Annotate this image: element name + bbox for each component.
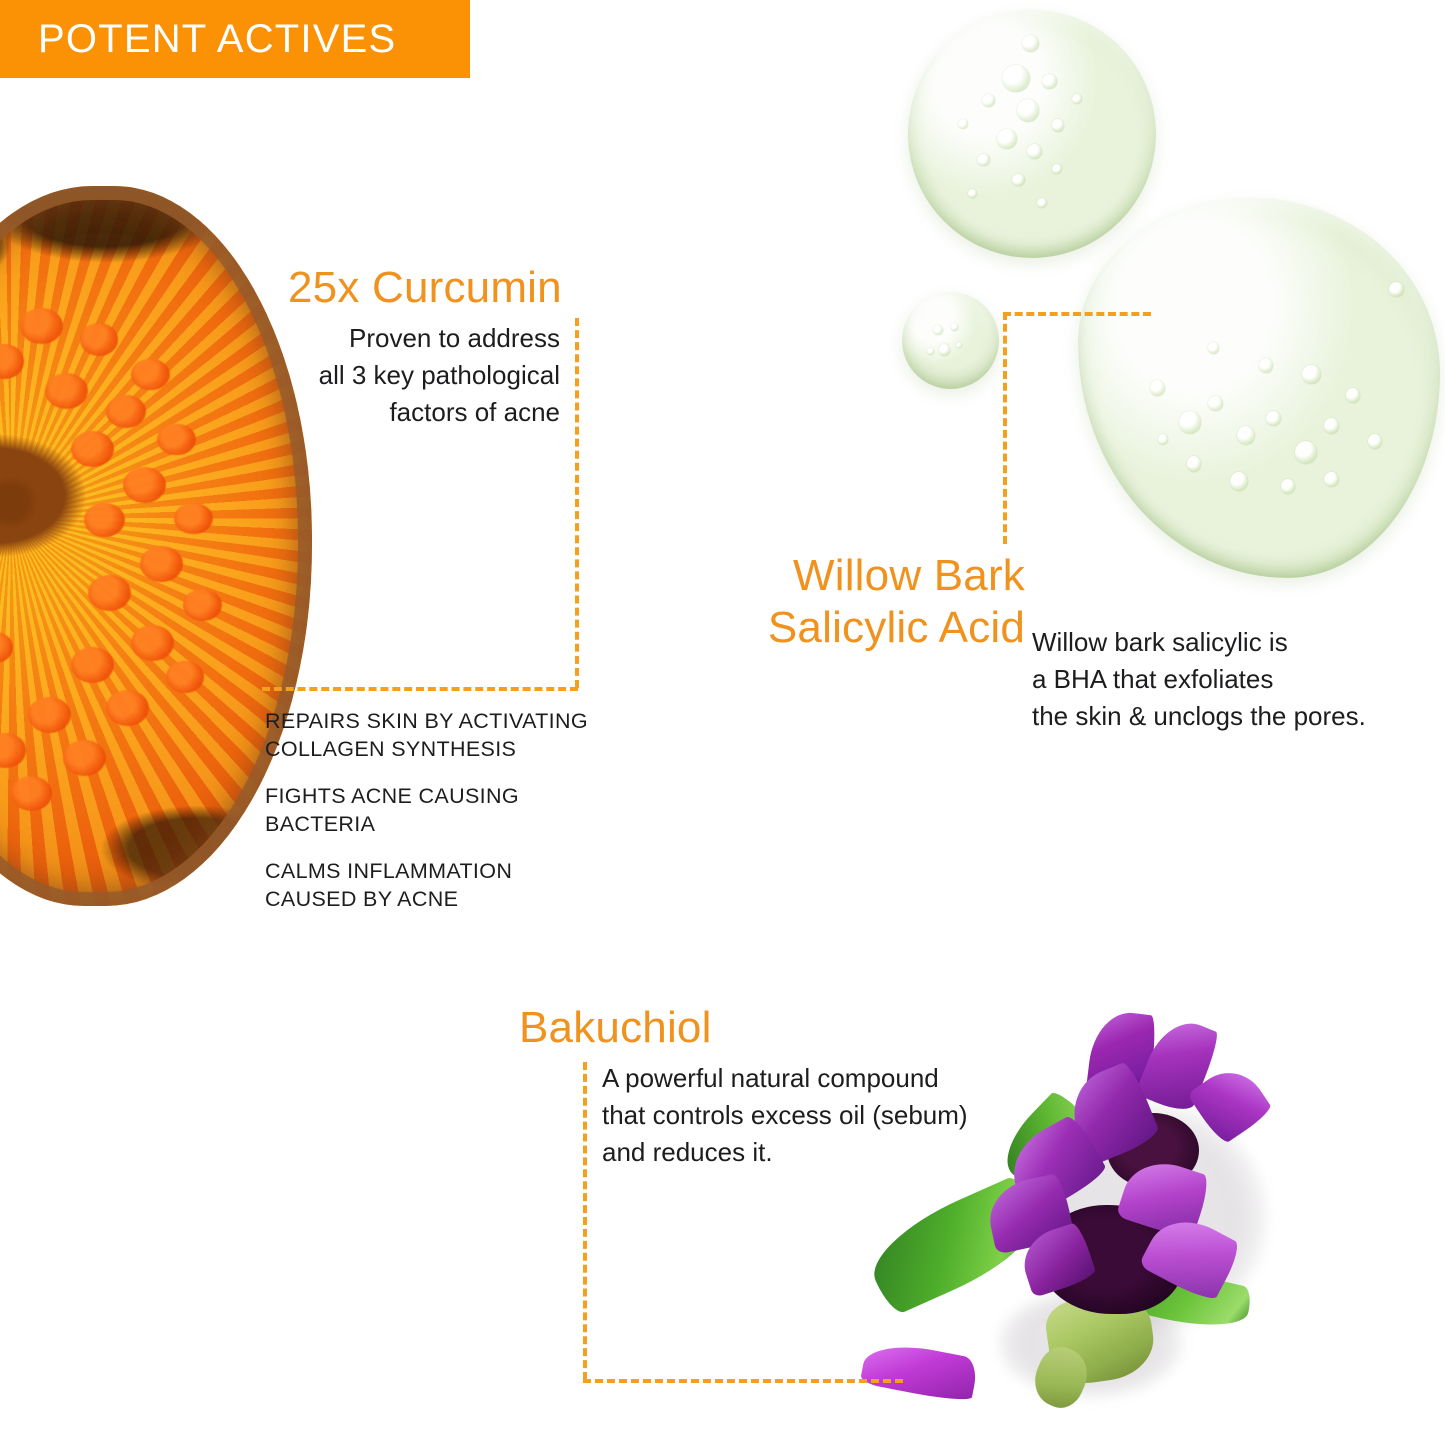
willow-connector-horizontal — [1003, 312, 1151, 316]
fallen-petal-icon — [860, 1337, 980, 1404]
willow-bark-description: Willow bark salicylic is a BHA that exfo… — [1032, 624, 1432, 735]
curcumin-description-line: all 3 key pathological — [200, 357, 560, 394]
gel-blob-splat-icon — [1078, 198, 1440, 578]
curcumin-benefits-list: REPAIRS SKIN BY ACTIVATING COLLAGEN SYNT… — [265, 708, 605, 913]
willow-bark-title: Willow Bark Salicylic Acid — [735, 550, 1025, 654]
curcumin-connector-horizontal — [262, 687, 578, 691]
willow-bark-description-line: Willow bark salicylic is — [1032, 624, 1432, 661]
benefit-line: REPAIRS SKIN BY ACTIVATING — [265, 708, 605, 736]
benefit-line: CALMS INFLAMMATION — [265, 858, 605, 886]
bakuchiol-title: Bakuchiol — [519, 1002, 712, 1054]
gel-blob-small-icon — [902, 292, 999, 389]
curcumin-description-line: Proven to address — [200, 320, 560, 357]
curcumin-connector-vertical — [575, 318, 579, 688]
benefit-line: BACTERIA — [265, 811, 605, 839]
bakuchiol-description-line: and reduces it. — [602, 1134, 1022, 1171]
curcumin-title: 25x Curcumin — [288, 262, 562, 314]
benefit-line: COLLAGEN SYNTHESIS — [265, 736, 605, 764]
willow-bark-description-line: the skin & unclogs the pores. — [1032, 698, 1432, 735]
bakuchiol-description: A powerful natural compound that control… — [602, 1060, 1022, 1171]
willow-bark-description-line: a BHA that exfoliates — [1032, 661, 1432, 698]
gel-blob-large-icon — [908, 10, 1156, 258]
willow-connector-vertical — [1003, 312, 1007, 544]
curcumin-benefit-item: REPAIRS SKIN BY ACTIVATING COLLAGEN SYNT… — [265, 708, 605, 763]
curcumin-benefit-item: CALMS INFLAMMATION CAUSED BY ACNE — [265, 858, 605, 913]
header-banner-title: POTENT ACTIVES — [0, 17, 396, 62]
benefit-line: FIGHTS ACNE CAUSING — [265, 783, 605, 811]
curcumin-description: Proven to address all 3 key pathological… — [200, 320, 560, 431]
willow-bark-title-line: Willow Bark — [735, 550, 1025, 602]
bakuchiol-description-line: that controls excess oil (sebum) — [602, 1097, 1022, 1134]
curcumin-benefit-item: FIGHTS ACNE CAUSING BACTERIA — [265, 783, 605, 838]
bakuchiol-connector-vertical — [583, 1062, 587, 1380]
header-banner: POTENT ACTIVES — [0, 0, 470, 78]
benefit-line: CAUSED BY ACNE — [265, 886, 605, 914]
bakuchiol-description-line: A powerful natural compound — [602, 1060, 1022, 1097]
bakuchiol-connector-horizontal — [583, 1379, 903, 1383]
curcumin-description-line: factors of acne — [200, 394, 560, 431]
bakuchiol-flower-image — [855, 995, 1275, 1415]
willow-bark-title-line: Salicylic Acid — [735, 602, 1025, 654]
